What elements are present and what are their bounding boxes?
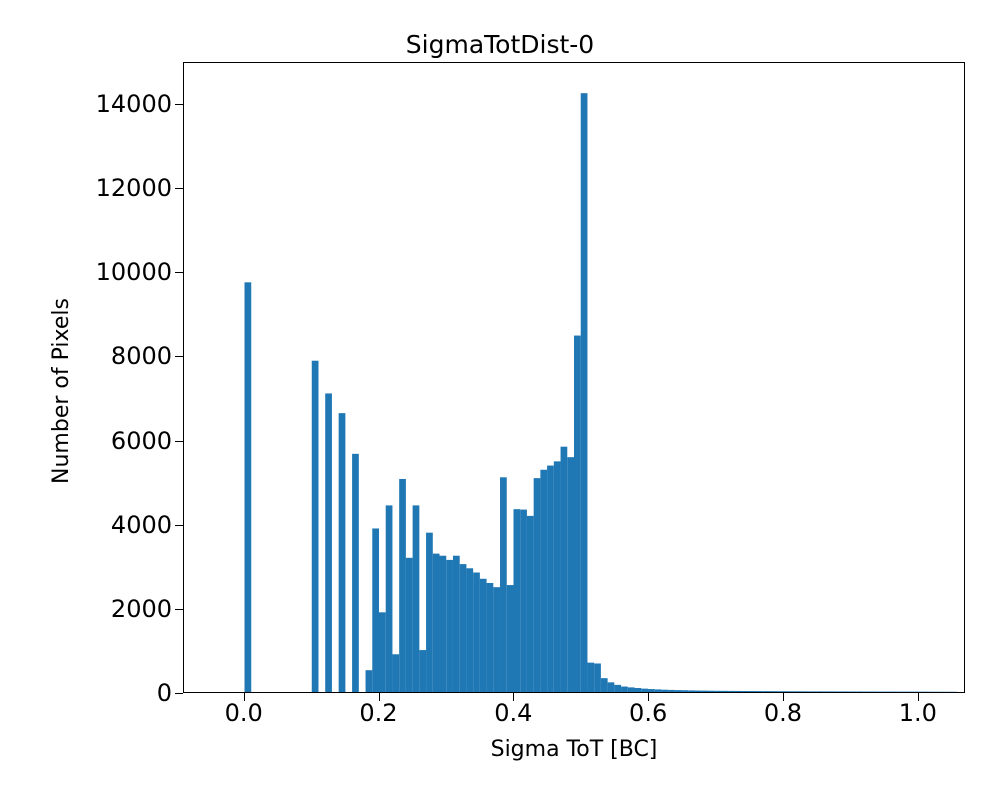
histogram-bar (742, 691, 749, 692)
histogram-bar (635, 688, 642, 692)
histogram-bar (702, 691, 709, 692)
y-tick-label: 12000 (96, 176, 172, 200)
histogram-bar (715, 691, 722, 692)
histogram-bar (816, 691, 823, 692)
histogram-bar (661, 690, 668, 692)
histogram-bar (836, 691, 843, 692)
y-tick-label: 10000 (96, 260, 172, 284)
y-tick-mark (175, 609, 183, 610)
plot-area (183, 62, 965, 693)
histogram-bar (473, 572, 480, 692)
histogram-bar (648, 689, 655, 692)
histogram-bar (453, 556, 460, 692)
x-tick-label: 0.4 (463, 701, 563, 725)
histogram-bar (460, 564, 467, 692)
histogram-bar (520, 510, 527, 692)
figure-canvas: SigmaTotDist-0 0200040006000800010000120… (0, 0, 1000, 800)
histogram-bar (621, 687, 628, 692)
histogram-bar (601, 678, 608, 692)
y-axis-tick-labels: 02000400060008000100001200014000 (0, 0, 172, 800)
histogram-bar (366, 670, 373, 692)
y-tick-label: 6000 (111, 429, 172, 453)
histogram-bar (547, 466, 554, 692)
histogram-bar (809, 691, 816, 692)
histogram-bar (749, 691, 756, 692)
x-tick-mark (244, 693, 245, 701)
histogram-bar (776, 691, 783, 692)
histogram-bar (413, 505, 420, 692)
histogram-bar (729, 691, 736, 692)
histogram-bar (803, 691, 810, 692)
histogram-bar (796, 691, 803, 692)
histogram-bar (426, 533, 433, 692)
histogram-bar (500, 477, 507, 692)
x-tick-label: 0.2 (329, 701, 429, 725)
histogram-bar (493, 587, 500, 692)
histogram-bar (567, 457, 574, 692)
x-tick-label: 0.0 (194, 701, 294, 725)
histogram-bar (440, 556, 447, 692)
histogram-bar (722, 691, 729, 692)
y-axis-label-wrapper: Number of Pixels (34, 128, 60, 628)
y-tick-label: 14000 (96, 92, 172, 116)
histogram-bar (386, 505, 393, 692)
histogram-bar (554, 461, 561, 692)
histogram-bar (655, 689, 662, 692)
histogram-bar (433, 554, 440, 692)
histogram-bar (830, 691, 837, 692)
y-tick-mark (175, 441, 183, 442)
histogram-bar (352, 454, 359, 692)
y-tick-label: 0 (157, 681, 172, 705)
histogram-bar (466, 568, 473, 692)
x-tick-mark (648, 693, 649, 701)
y-tick-mark (175, 525, 183, 526)
histogram-bar (668, 690, 675, 692)
y-tick-mark (175, 693, 183, 694)
histogram-bar (574, 336, 581, 692)
histogram-bar (245, 282, 252, 692)
histogram-bar (406, 558, 413, 692)
histogram-bar (534, 478, 541, 692)
x-tick-label: 1.0 (868, 701, 968, 725)
histogram-bar (392, 654, 399, 692)
x-tick-mark (918, 693, 919, 701)
histogram-bar (527, 516, 534, 692)
histogram-bar (480, 579, 487, 692)
y-tick-label: 2000 (111, 597, 172, 621)
y-tick-label: 8000 (111, 344, 172, 368)
y-tick-mark (175, 188, 183, 189)
x-axis-label: Sigma ToT [BC] (183, 737, 965, 763)
y-tick-mark (175, 356, 183, 357)
histogram-bar (608, 682, 615, 692)
histogram-bar (446, 560, 453, 692)
histogram-bar (581, 93, 588, 692)
histogram-bar (312, 361, 319, 692)
histogram-bar (399, 479, 406, 692)
x-tick-label: 0.6 (598, 701, 698, 725)
histogram-bar (628, 687, 635, 692)
x-tick-mark (783, 693, 784, 701)
y-tick-mark (175, 104, 183, 105)
histogram-bar (843, 691, 850, 692)
histogram-bar (614, 685, 621, 692)
histogram-bar (782, 691, 789, 692)
histogram-bar (513, 509, 520, 692)
x-tick-label: 0.8 (733, 701, 833, 725)
histogram-bar (708, 691, 715, 692)
histogram-bar (789, 691, 796, 692)
x-tick-mark (379, 693, 380, 701)
histogram-bar (594, 663, 601, 692)
histogram-bar (379, 612, 386, 692)
histogram-bar (695, 691, 702, 692)
histogram-bar (682, 690, 689, 692)
y-tick-label: 4000 (111, 513, 172, 537)
histogram-bar (587, 663, 594, 692)
histogram-bar (735, 691, 742, 692)
histogram-bar (641, 689, 648, 692)
histogram-bar (487, 583, 494, 692)
histogram-bar (540, 470, 547, 692)
histogram-bar (688, 690, 695, 692)
histogram-bar (372, 528, 379, 692)
histogram-bar (823, 691, 830, 692)
histogram-bars (184, 63, 964, 692)
histogram-bar (507, 585, 514, 692)
histogram-bar (769, 691, 776, 692)
y-tick-mark (175, 272, 183, 273)
histogram-bar (756, 691, 763, 692)
histogram-bar (325, 393, 332, 692)
y-axis-label: Number of Pixels (49, 241, 75, 541)
x-tick-mark (513, 693, 514, 701)
histogram-bar (561, 447, 568, 692)
histogram-bar (419, 650, 426, 692)
histogram-bar (675, 690, 682, 692)
histogram-bar (339, 413, 346, 692)
histogram-bar (762, 691, 769, 692)
